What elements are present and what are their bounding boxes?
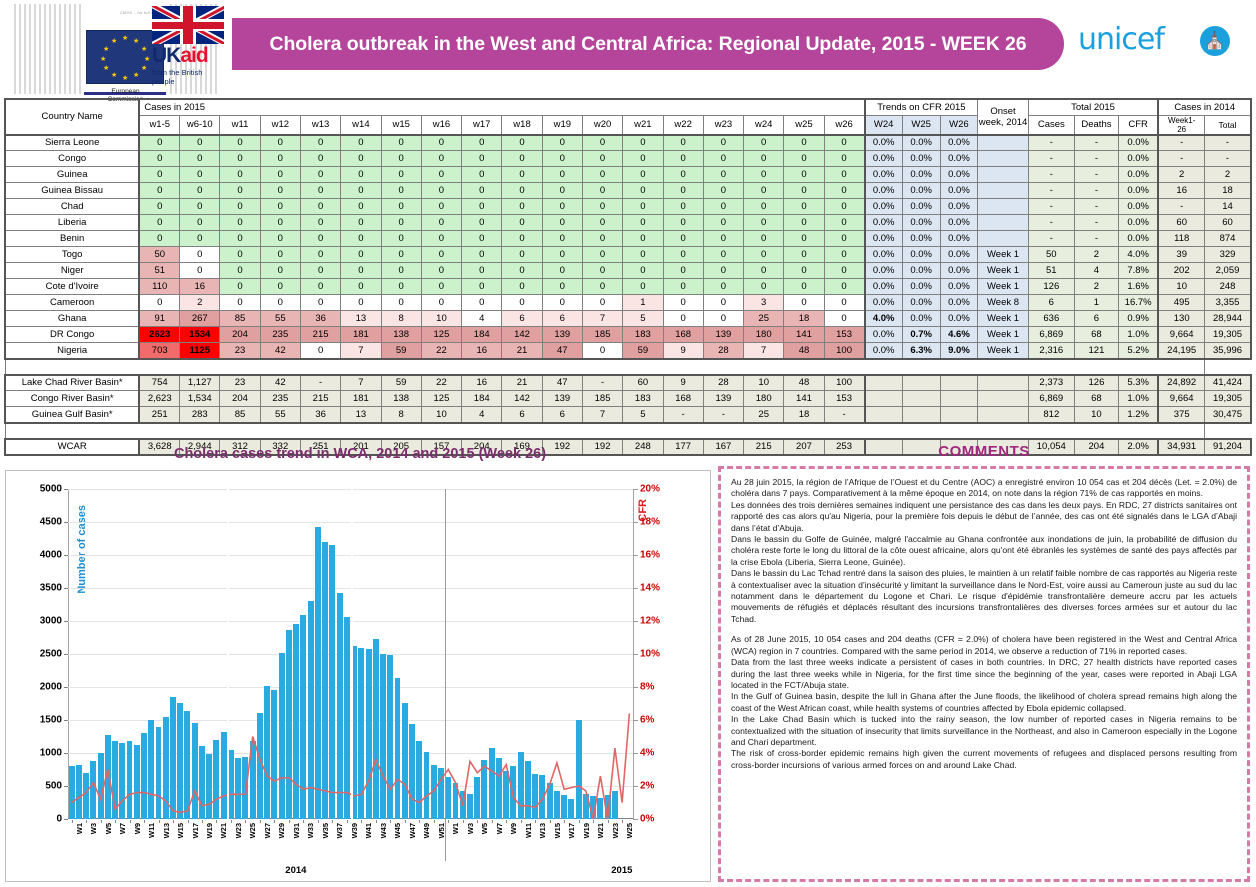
row-country-guinea: Guinea [5, 167, 139, 183]
cell-total-cfr: 5.2% [1118, 343, 1158, 359]
col-w15: w15 [381, 115, 421, 135]
cell-total-cfr: 0.0% [1118, 215, 1158, 231]
chart-x-tick-label: W25 [625, 823, 634, 838]
cell-week-w25: 141 [784, 327, 824, 343]
chart-y-tickmark [64, 819, 68, 820]
cell-week-w23: 0 [703, 215, 743, 231]
cell-total-cases: - [1028, 231, 1074, 247]
cell-week-w18: 0 [502, 199, 542, 215]
ukaid-aid-text: aid [180, 44, 207, 67]
page-header: CMYK – for full colour printing ★ ★ ★ ★ … [0, 0, 1256, 96]
chart-y2-tickmark [633, 489, 638, 490]
basin-row-1-w21: 183 [623, 391, 663, 407]
basin-row-0-total-deaths: 126 [1074, 375, 1118, 391]
cell-week-w17: 0 [462, 247, 502, 263]
cell-total-cases: 636 [1028, 311, 1074, 327]
cell-week-w16: 0 [421, 167, 461, 183]
cell-week-w18: 0 [502, 183, 542, 199]
cell-week-w23: 0 [703, 151, 743, 167]
chart-x-tick-label: W33 [306, 823, 315, 838]
cell-week-w19: 0 [542, 199, 582, 215]
row-country-dr-congo: DR Congo [5, 327, 139, 343]
row-country-cameroon: Cameroon [5, 295, 139, 311]
page-title: Cholera outbreak in the West and Central… [269, 33, 1026, 56]
cell-week-w23: 0 [703, 167, 743, 183]
chart-x-tickmark [86, 820, 87, 823]
chart-x-tickmark [463, 820, 464, 823]
chart-y2-tick-2%: 2% [640, 781, 654, 792]
cell-cfr-W24: 0.0% [865, 295, 903, 311]
row-country-ghana: Ghana [5, 311, 139, 327]
header-onset-week: Onset week, 2014 [978, 99, 1028, 135]
cell-week-w1-5: 110 [139, 279, 179, 295]
cell-cfr-W26: 0.0% [940, 167, 978, 183]
cell-week-w11: 0 [220, 183, 260, 199]
table-row: DR Congo26231534204235215181138125184142… [5, 327, 1251, 343]
cell-week-w26: 0 [824, 215, 864, 231]
cell-cfr-W24: 0.0% [865, 231, 903, 247]
cell-week-w1-5: 50 [139, 247, 179, 263]
cell-week-w18: 0 [502, 135, 542, 151]
chart-x-tickmark [419, 820, 420, 823]
cell-week-w19: 47 [542, 343, 582, 359]
basin-row-0-w15: 59 [381, 375, 421, 391]
chart-y2-tickmark [633, 786, 638, 787]
cell-cfr-W24: 0.0% [865, 151, 903, 167]
cell-week-w21: 0 [623, 279, 663, 295]
cell-2014-total: 2,059 [1205, 263, 1251, 279]
chart-x-tickmark [332, 820, 333, 823]
ukaid-tagline: from the British people [152, 68, 224, 86]
cell-week-w1-5: 91 [139, 311, 179, 327]
chart-y2-tickmark [633, 687, 638, 688]
comment-paragraph: Dans le bassin du Lac Tchad rentré dans … [731, 568, 1237, 625]
cell-week-w6-10: 0 [180, 167, 220, 183]
col-2014-w1-line1: Week1- [1168, 116, 1195, 125]
basin-row-1-total-deaths: 68 [1074, 391, 1118, 407]
cell-2014-total: 60 [1205, 215, 1251, 231]
basin-row-1-w17: 184 [462, 391, 502, 407]
cell-2014-total: - [1205, 151, 1251, 167]
chart-y2-tick-0%: 0% [640, 814, 654, 825]
cell-week-w21: 1 [623, 295, 663, 311]
comment-paragraph: In the Lake Chad Basin which is tucked i… [731, 714, 1237, 748]
row-country-chad: Chad [5, 199, 139, 215]
cell-week-w15: 138 [381, 327, 421, 343]
cell-week-w19: 0 [542, 151, 582, 167]
cell-week-w25: 0 [784, 199, 824, 215]
cell-week-w1-5: 0 [139, 167, 179, 183]
col-cfr-w26: W26 [940, 115, 978, 135]
cell-total-deaths: - [1074, 199, 1118, 215]
cell-cfr-W25: 0.0% [902, 199, 940, 215]
cell-total-cfr: 1.0% [1118, 327, 1158, 343]
comments-title: COMMENTS [716, 443, 1252, 460]
cell-week-w23: 0 [703, 247, 743, 263]
chart-x-tickmark [564, 820, 565, 823]
cell-week-w25: 0 [784, 279, 824, 295]
basin-row-0-total-cfr: 5.3% [1118, 375, 1158, 391]
cell-week-w14: 0 [341, 199, 381, 215]
cell-week-w17: 4 [462, 311, 502, 327]
cell-week-w16: 0 [421, 135, 461, 151]
cell-week-w12: 0 [260, 215, 300, 231]
chart-x-tick-label: W19 [205, 823, 214, 838]
cell-total-cases: 6,869 [1028, 327, 1074, 343]
chart-x-tick-label: W25 [248, 823, 257, 838]
chart-year-divider [445, 489, 446, 861]
cell-cfr-W26: 0.0% [940, 183, 978, 199]
basin-row-1-w13: 215 [300, 391, 340, 407]
cell-cfr-W26: 0.0% [940, 279, 978, 295]
cell-total-deaths: - [1074, 231, 1118, 247]
chart-x-tick-label: W9 [509, 823, 518, 834]
chart-x-tickmark [550, 820, 551, 823]
chart-y-tick-4000: 4000 [40, 550, 62, 561]
cell-total-deaths: - [1074, 167, 1118, 183]
basin-row-0-w22: 9 [663, 375, 703, 391]
basin-row-0-w17: 16 [462, 375, 502, 391]
chart-x-tickmark [289, 820, 290, 823]
cell-cfr-W26: 0.0% [940, 199, 978, 215]
chart-x-tickmark [405, 820, 406, 823]
chart-x-tick-label: W9 [133, 823, 142, 834]
cell-week-w6-10: 0 [180, 183, 220, 199]
basin-row-1-total-cfr: 1.0% [1118, 391, 1158, 407]
cell-week-w21: 5 [623, 311, 663, 327]
cell-2014-total: 329 [1205, 247, 1251, 263]
cell-week-w6-10: 1534 [180, 327, 220, 343]
cell-week-w15: 8 [381, 311, 421, 327]
basin-row-2-2014-total: 30,475 [1205, 407, 1251, 423]
cell-week-w11: 0 [220, 151, 260, 167]
cell-week-w12: 0 [260, 199, 300, 215]
cell-week-w1-5: 0 [139, 135, 179, 151]
cell-week-w6-10: 0 [180, 135, 220, 151]
table-row: Ghana91267855536138104667500251804.0%0.0… [5, 311, 1251, 327]
basin-row-2-w25: 18 [784, 407, 824, 423]
cell-week-w24: 0 [744, 279, 784, 295]
cell-week-w26: 0 [824, 279, 864, 295]
cell-week-w11: 0 [220, 167, 260, 183]
chart-x-tickmark [202, 820, 203, 823]
col-total-cfr: CFR [1118, 115, 1158, 135]
chart-x-tickmark [115, 820, 116, 823]
cell-week-w26: 0 [824, 183, 864, 199]
basin-row-0-w12: 42 [260, 375, 300, 391]
row-country-sierra-leone: Sierra Leone [5, 135, 139, 151]
chart-plot-area: 0500100015002000250030003500400045005000… [68, 489, 633, 819]
cell-total-deaths: - [1074, 215, 1118, 231]
basin-row-1-cfr-W26 [940, 391, 978, 407]
chart-x-tick-label: W5 [104, 823, 113, 834]
ukaid-logo: UKaid from the British people [152, 6, 224, 92]
chart-x-tickmark [477, 820, 478, 823]
basin-row-0-w14: 7 [341, 375, 381, 391]
basin-row-1-w19: 139 [542, 391, 582, 407]
chart-x-tickmark [274, 820, 275, 823]
cell-week-w14: 0 [341, 135, 381, 151]
cell-week-w12: 42 [260, 343, 300, 359]
cell-week-w24: 0 [744, 231, 784, 247]
cell-week-w15: 0 [381, 231, 421, 247]
cell-cfr-W25: 0.0% [902, 183, 940, 199]
cell-week-w20: 0 [582, 247, 622, 263]
basin-row-1-w11: 204 [220, 391, 260, 407]
cell-total-cfr: 1.6% [1118, 279, 1158, 295]
cell-week-w23: 139 [703, 327, 743, 343]
basin-row-1-w26: 153 [824, 391, 864, 407]
basin-row-1-cfr-W25 [902, 391, 940, 407]
cell-week-w16: 0 [421, 231, 461, 247]
chart-y2-tickmark [633, 555, 638, 556]
cell-week-w22: 0 [663, 199, 703, 215]
cell-total-deaths: - [1074, 135, 1118, 151]
chart-x-tick-label: W23 [234, 823, 243, 838]
cell-week-w1-5: 0 [139, 151, 179, 167]
cell-week-w21: 0 [623, 167, 663, 183]
cell-2014-total: - [1205, 135, 1251, 151]
cell-week-w25: 0 [784, 167, 824, 183]
row-country-togo: Togo [5, 247, 139, 263]
surveillance-table-container: Country Name Cases in 2015 Trends on CFR… [4, 98, 1252, 456]
cell-week-w21: 0 [623, 183, 663, 199]
chart-x-tick-label: W11 [524, 823, 533, 838]
cell-week-w14: 0 [341, 295, 381, 311]
col-2014-week1-26: Week1- 26 [1158, 115, 1204, 135]
chart-x-tickmark [303, 820, 304, 823]
basin-row-1-w25: 141 [784, 391, 824, 407]
basin-row-0-w23: 28 [703, 375, 743, 391]
cell-week-w11: 0 [220, 135, 260, 151]
cell-week-w12: 0 [260, 295, 300, 311]
chart-x-tick-label: W41 [364, 823, 373, 838]
chart-x-tick-label: W1 [451, 823, 460, 834]
cell-week-w1-5: 2623 [139, 327, 179, 343]
cell-week-w19: 0 [542, 135, 582, 151]
cell-total-cases: - [1028, 183, 1074, 199]
chart-y2-tick-20%: 20% [640, 484, 660, 495]
cell-2014-total: 18 [1205, 183, 1251, 199]
cell-week-w15: 0 [381, 167, 421, 183]
chart-year-label: 2014 [285, 865, 306, 876]
chart-x-tickmark [434, 820, 435, 823]
cell-week-w16: 125 [421, 327, 461, 343]
cell-total-cases: 50 [1028, 247, 1074, 263]
basin-row-0-onset [978, 375, 1028, 391]
chart-x-tickmark [188, 820, 189, 823]
basin-row-1-cfr-W24 [865, 391, 903, 407]
header-trends-cfr-2015: Trends on CFR 2015 [865, 99, 978, 115]
cell-total-cfr: 0.0% [1118, 199, 1158, 215]
row-country-cote-d-ivoire: Cote d'Ivoire [5, 279, 139, 295]
cell-week-w12: 0 [260, 279, 300, 295]
chart-x-tickmark [608, 820, 609, 823]
chart-x-tick-label: W15 [553, 823, 562, 838]
chart-y-tick-0: 0 [56, 814, 62, 825]
col-w20: w20 [582, 115, 622, 135]
union-jack-icon [152, 6, 224, 44]
chart-x-tick-label: W15 [176, 823, 185, 838]
comment-paragraph: Data from the last three weeks indicate … [731, 657, 1237, 691]
table-row: Niger51000000000000000000.0%0.0%0.0%Week… [5, 263, 1251, 279]
cell-week-w15: 59 [381, 343, 421, 359]
cell-cfr-W24: 0.0% [865, 215, 903, 231]
basin-row-0-cfr-W25 [902, 375, 940, 391]
chart-x-tick-label: W47 [408, 823, 417, 838]
chart-x-tickmark [231, 820, 232, 823]
cell-total-cfr: 0.0% [1118, 135, 1158, 151]
chart-x-tick-label: W35 [321, 823, 330, 838]
col-w24: w24 [744, 115, 784, 135]
cell-week-w14: 0 [341, 215, 381, 231]
cell-week-w6-10: 267 [180, 311, 220, 327]
cell-week-w25: 18 [784, 311, 824, 327]
cell-onset-week: Week 1 [978, 263, 1028, 279]
chart-x-tickmark [535, 820, 536, 823]
cell-week-w15: 0 [381, 295, 421, 311]
cell-week-w11: 0 [220, 199, 260, 215]
chart-x-tickmark [622, 820, 623, 823]
col-w26: w26 [824, 115, 864, 135]
chart-x-tickmark [130, 820, 131, 823]
cell-week-w24: 0 [744, 183, 784, 199]
col-w11: w11 [220, 115, 260, 135]
cell-cfr-W25: 0.0% [902, 167, 940, 183]
table-row: Togo50000000000000000000.0%0.0%0.0%Week … [5, 247, 1251, 263]
chart-y2-tickmark [633, 621, 638, 622]
cell-2014-week1-26: 130 [1158, 311, 1204, 327]
cell-cfr-W26: 0.0% [940, 295, 978, 311]
cell-2014-week1-26: 39 [1158, 247, 1204, 263]
basin-row-0-w1-5: 754 [139, 375, 179, 391]
chart-x-tick-label: W37 [335, 823, 344, 838]
table-row: Liberia0000000000000000000.0%0.0%0.0%--0… [5, 215, 1251, 231]
cell-total-cfr: 7.8% [1118, 263, 1158, 279]
cell-week-w26: 100 [824, 343, 864, 359]
cell-onset-week: Week 1 [978, 279, 1028, 295]
cell-cfr-W25: 0.0% [902, 295, 940, 311]
cell-week-w19: 0 [542, 183, 582, 199]
basin-row-2-w13: 36 [300, 407, 340, 423]
basin-row-2-w20: 7 [582, 407, 622, 423]
chart-x-tickmark [579, 820, 580, 823]
cell-week-w16: 0 [421, 279, 461, 295]
cell-week-w16: 0 [421, 199, 461, 215]
chart-x-tickmark [347, 820, 348, 823]
row-country-liberia: Liberia [5, 215, 139, 231]
cell-onset-week: Week 1 [978, 247, 1028, 263]
basin-row-2-w18: 6 [502, 407, 542, 423]
cell-week-w23: 0 [703, 295, 743, 311]
cell-cfr-W25: 0.0% [902, 151, 940, 167]
cell-week-w24: 0 [744, 263, 784, 279]
cell-2014-total: 35,996 [1205, 343, 1251, 359]
cell-week-w15: 0 [381, 247, 421, 263]
cell-week-w24: 7 [744, 343, 784, 359]
cell-2014-week1-26: 2 [1158, 167, 1204, 183]
cell-onset-week: Week 8 [978, 295, 1028, 311]
basin-row-2-cfr-W25 [902, 407, 940, 423]
cell-total-cases: - [1028, 199, 1074, 215]
basin-row-1-w15: 138 [381, 391, 421, 407]
basin-row-2-w21: 5 [623, 407, 663, 423]
cell-week-w21: 0 [623, 247, 663, 263]
cell-week-w18: 0 [502, 279, 542, 295]
cell-week-w17: 0 [462, 183, 502, 199]
cell-week-w22: 0 [663, 135, 703, 151]
cell-week-w6-10: 0 [180, 151, 220, 167]
chart-x-tickmark [144, 820, 145, 823]
chart-x-tick-label: W17 [191, 823, 200, 838]
basin-row-2-w26: - [824, 407, 864, 423]
cell-2014-total: 3,355 [1205, 295, 1251, 311]
cell-week-w17: 0 [462, 279, 502, 295]
cell-2014-week1-26: - [1158, 199, 1204, 215]
chart-y2-tickmark [633, 720, 638, 721]
cell-week-w19: 0 [542, 295, 582, 311]
cell-2014-total: 248 [1205, 279, 1251, 295]
basin-row-2-w17: 4 [462, 407, 502, 423]
cell-week-w18: 0 [502, 295, 542, 311]
unicef-wordmark: unicef [1078, 22, 1164, 57]
cell-cfr-W24: 0.0% [865, 343, 903, 359]
header-country-name: Country Name [5, 99, 139, 135]
header-cases-2014: Cases in 2014 [1158, 99, 1251, 115]
cell-week-w21: 0 [623, 135, 663, 151]
cell-2014-total: 2 [1205, 167, 1251, 183]
cell-week-w6-10: 16 [180, 279, 220, 295]
col-2014-total: Total [1205, 115, 1251, 135]
cell-cfr-W24: 0.0% [865, 263, 903, 279]
cell-week-w20: 0 [582, 263, 622, 279]
cell-2014-week1-26: 60 [1158, 215, 1204, 231]
cell-week-w1-5: 0 [139, 215, 179, 231]
chart-y2-tickmark [633, 753, 638, 754]
basin-row-2-w15: 8 [381, 407, 421, 423]
cell-total-cases: 51 [1028, 263, 1074, 279]
basin-row-1: Congo River Basin*2,6231,534204235215181… [5, 391, 1251, 407]
basin-row-0-label: Lake Chad River Basin* [5, 375, 139, 391]
table-row: Chad0000000000000000000.0%0.0%0.0%--0.0%… [5, 199, 1251, 215]
cell-week-w20: 0 [582, 279, 622, 295]
cell-week-w26: 0 [824, 135, 864, 151]
cell-cfr-W25: 0.0% [902, 247, 940, 263]
table-row: Nigeria703112523420759221621470599287481… [5, 343, 1251, 359]
cell-cfr-W25: 0.0% [902, 135, 940, 151]
basin-row-1-w12: 235 [260, 391, 300, 407]
cell-week-w24: 180 [744, 327, 784, 343]
cell-week-w6-10: 0 [180, 263, 220, 279]
cell-total-cfr: 0.0% [1118, 183, 1158, 199]
col-w17: w17 [462, 115, 502, 135]
cell-week-w16: 0 [421, 247, 461, 263]
cell-week-w25: 0 [784, 151, 824, 167]
basin-row-1-w18: 142 [502, 391, 542, 407]
basin-row-2-2014-week1-26: 375 [1158, 407, 1204, 423]
cell-week-w1-5: 51 [139, 263, 179, 279]
cell-cfr-W26: 0.0% [940, 215, 978, 231]
cell-week-w17: 0 [462, 167, 502, 183]
cell-2014-total: 28,944 [1205, 311, 1251, 327]
cell-2014-week1-26: - [1158, 151, 1204, 167]
cell-week-w20: 0 [582, 231, 622, 247]
cell-week-w1-5: 0 [139, 231, 179, 247]
cell-total-cfr: 16.7% [1118, 295, 1158, 311]
cell-cfr-W26: 0.0% [940, 247, 978, 263]
cell-week-w16: 10 [421, 311, 461, 327]
cell-total-cases: - [1028, 151, 1074, 167]
